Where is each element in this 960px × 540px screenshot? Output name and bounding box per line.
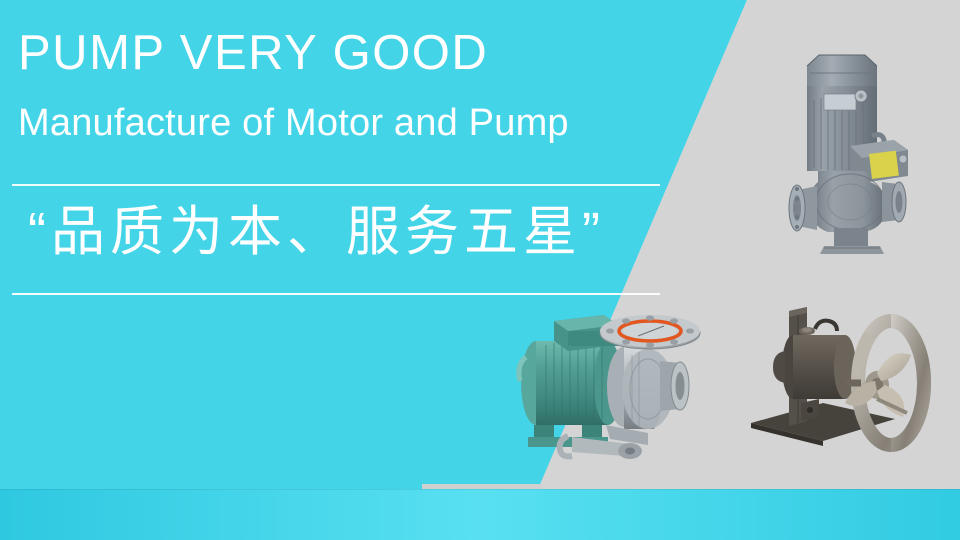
product-image-horizontal-centrifugal-pump [498,305,720,465]
bottom-gradient-bar [0,489,960,540]
bottom-bar-divider [0,489,960,490]
slogan-text: “品质为本、服务五星” [28,201,605,263]
slogan-rule-bottom [12,293,660,295]
page-title: PUMP VERY GOOD [18,29,488,78]
promotional-banner: PUMP VERY GOOD Manufacture of Motor and … [0,0,960,540]
page-subtitle: Manufacture of Motor and Pump [18,104,569,142]
product-image-submersible-mixer [745,295,950,470]
slogan-rule-top [12,184,660,186]
product-image-vertical-inline-pump [762,42,940,258]
